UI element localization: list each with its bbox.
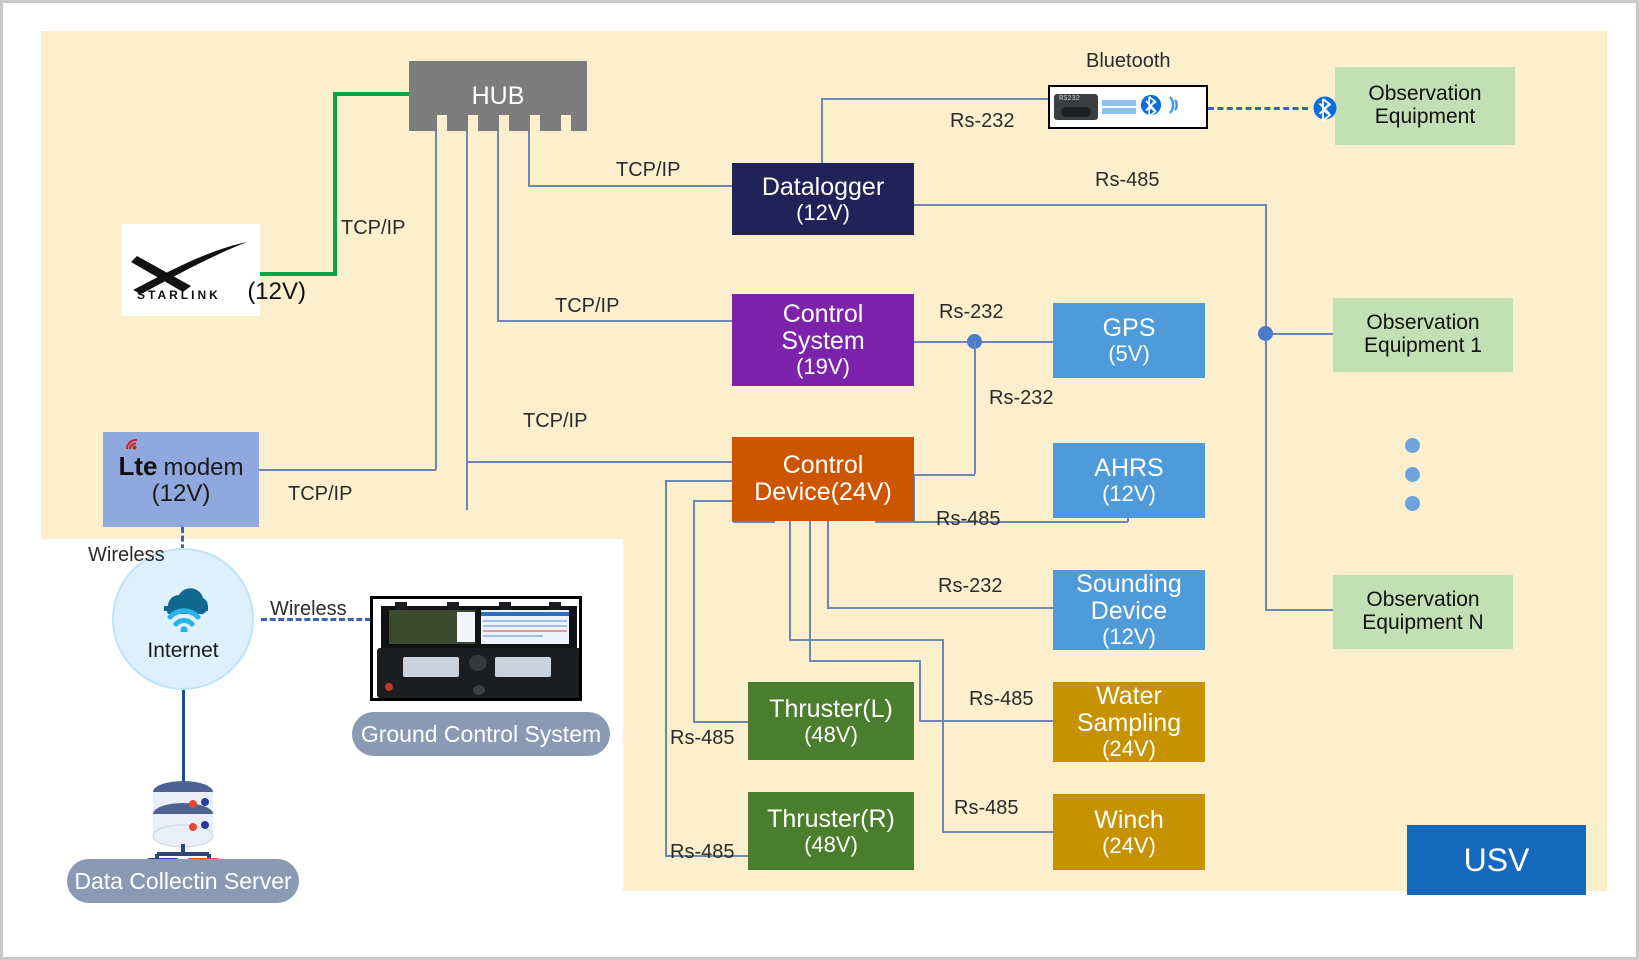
ahrs-voltage: (12V) [1102,482,1156,506]
wire-obs1-branch [1265,333,1333,335]
label-datalogger-bluetooth: Rs-232 [950,110,1014,133]
obs-bt-label-2: Equipment [1375,106,1475,129]
gcs-caption: Ground Control System [352,712,610,756]
label-internet-gcs: Wireless [270,598,347,621]
wire-datalogger-obs-horiz [914,204,1266,206]
junction-dot-obs [1258,326,1273,341]
water-sampling-label-1: Water [1096,683,1162,710]
water-sampling-label-2: Sampling [1077,710,1181,737]
starlink-voltage: (12V) [247,278,306,306]
label-hub-starlink: TCP/IP [341,217,405,240]
control-system-node[interactable]: Control System (19V) [732,294,914,386]
bluetooth-icon [1140,90,1162,125]
thruster-left-node[interactable]: Thruster(L) (48V) [748,682,914,760]
sounding-label-1: Sounding [1076,571,1182,598]
obs-1-label-1: Observation [1366,312,1479,335]
ground-control-system-image [370,596,582,701]
rs232-port-label: RS232 [1059,95,1080,103]
water-sampling-node[interactable]: Water Sampling (24V) [1053,682,1205,762]
wire-starlink-to-hub [333,92,411,96]
hub-port-5 [561,115,571,131]
control-system-voltage: (19V) [796,355,850,379]
winch-node[interactable]: Winch (24V) [1053,794,1205,870]
internet-node[interactable]: Internet [112,548,254,690]
internet-label: Internet [147,639,218,663]
bidirectional-arrows-icon [1102,98,1136,116]
thruster-right-node[interactable]: Thruster(R) (48V) [748,792,914,870]
label-hub-control-system: TCP/IP [555,295,619,318]
ellipsis-dot-3 [1405,496,1420,511]
wire-cd-water-horiz1 [809,660,919,662]
gps-node[interactable]: GPS (5V) [1053,303,1205,378]
wire-hub-port-4 [528,130,530,185]
obs-n-label-2: Equipment N [1362,612,1483,635]
label-cs-gps: Rs-232 [939,301,1003,324]
wire-hub-port-1 [435,130,437,470]
usv-badge-label: USV [1464,843,1530,878]
rs232-port-shape [1061,107,1091,117]
lte-modem-voltage: (12V) [152,481,211,507]
bluetooth-title: Bluetooth [1086,50,1171,73]
hub-port-1 [437,115,447,131]
obs-n-label-1: Observation [1366,589,1479,612]
data-server-caption: Data Collectin Server [67,859,299,903]
bluetooth-icon-receiver [1310,92,1340,129]
wire-thl-col [693,500,695,721]
rs232-connector-icon: RS232 [1054,94,1098,120]
wire-hub-port-3 [497,130,499,320]
wire-bt-to-obs-dashed [1208,107,1308,110]
label-cd-thruster-l: Rs-485 [670,727,734,750]
hub-port-2 [468,115,478,131]
database-icon [143,778,223,870]
hub-port-4 [530,115,540,131]
wire-cd-water-horiz2 [919,720,1054,722]
observation-equipment-n-node[interactable]: Observation Equipment N [1333,575,1513,649]
thruster-left-voltage: (48V) [804,723,858,747]
control-device-label-1: Control [783,452,864,479]
label-cd-ahrs: Rs-485 [936,508,1000,531]
wire-datalogger-bt-horiz [821,98,1049,100]
observation-equipment-bt-node[interactable]: Observation Equipment [1335,67,1515,145]
label-cd-gps-branch: Rs-232 [989,387,1053,410]
wire-cd-thl-branch-top [733,521,775,523]
ahrs-node[interactable]: AHRS (12V) [1053,443,1205,518]
wire-datalogger-bt-vert [821,98,823,163]
wire-hub-to-lte [259,469,436,471]
wire-cd-to-gps-branch [914,474,975,476]
wire-cs-to-gps [914,341,1053,343]
wire-starlink-vert [333,92,337,276]
cloud-icon [150,576,216,637]
gps-voltage: (5V) [1108,342,1150,366]
label-cd-water: Rs-485 [969,688,1033,711]
control-device-node[interactable]: Control Device(24V) [732,437,914,521]
datalogger-voltage: (12V) [796,201,850,225]
wire-cd-water-vert2 [919,660,921,720]
wire-cd-sounding-horiz [827,607,1054,609]
control-system-label-1: Control [783,301,864,328]
label-cd-thruster-r: Rs-485 [670,841,734,864]
thruster-left-label: Thruster(L) [769,696,893,723]
wire-cd-left-stub-b [665,480,733,482]
hub-port-3 [499,115,509,131]
wire-hub-to-datalogger [528,185,732,187]
label-hub-control-device: TCP/IP [523,410,587,433]
ahrs-label: AHRS [1094,455,1163,482]
wire-hub-to-control-system [497,320,732,322]
wire-cd-winch-vert1 [789,521,791,639]
bluetooth-adapter-node[interactable]: RS232 [1048,85,1208,129]
thruster-right-voltage: (48V) [804,833,858,857]
label-hub-lte: TCP/IP [288,483,352,506]
wire-cd-winch-horiz2 [942,831,1054,833]
wire-obs-trunk-vert [1265,204,1267,609]
control-device-label-2: Device(24V) [754,479,892,506]
obs-1-label-2: Equipment 1 [1364,335,1482,358]
ellipsis-dot-2 [1405,467,1420,482]
diagram-root: HUB STARLINK (12V) Lte [0,0,1639,960]
sounding-voltage: (12V) [1102,625,1156,649]
starlink-node[interactable]: STARLINK (12V) [122,224,260,316]
obs-bt-label-1: Observation [1368,83,1481,106]
data-server-caption-label: Data Collectin Server [74,868,291,895]
starlink-wordmark: STARLINK [137,288,221,302]
label-hub-datalogger: TCP/IP [616,159,680,182]
label-lte-internet: Wireless [88,544,165,567]
wire-starlink-stub [255,272,337,276]
wire-cd-winch-vert2 [942,639,944,831]
datalogger-label: Datalogger [762,174,884,201]
lte-modem-label: modem [163,455,243,481]
observation-equipment-1-node[interactable]: Observation Equipment 1 [1333,298,1513,372]
winch-voltage: (24V) [1102,834,1156,858]
lte-modem-node[interactable]: Lte modem (12V) [103,432,259,527]
label-cd-winch: Rs-485 [954,797,1018,820]
datalogger-node[interactable]: Datalogger (12V) [732,163,914,235]
ellipsis-dot-1 [1405,438,1420,453]
label-datalogger-obs: Rs-485 [1095,169,1159,192]
wire-thl-into-box [693,721,748,723]
wire-cd-ahrs-horiz [875,521,1128,523]
sounding-label-2: Device [1091,598,1167,625]
winch-label: Winch [1094,807,1163,834]
wire-hub-port-2 [466,130,468,510]
water-sampling-voltage: (24V) [1102,737,1156,761]
gcs-caption-label: Ground Control System [361,721,601,748]
observation-ellipsis-dots [1405,438,1420,511]
sounding-device-node[interactable]: Sounding Device (12V) [1053,570,1205,650]
lte-logo-row: Lte modem [118,452,243,481]
control-system-label-2: System [781,328,864,355]
wire-obsn-branch [1265,609,1333,611]
wire-cd-winch-horiz1 [789,639,942,641]
wire-internet-to-server [182,683,185,783]
thruster-right-label: Thruster(R) [767,806,895,833]
bluetooth-waves-icon [1166,92,1184,123]
hub-label: HUB [472,83,525,110]
wire-thr-col [665,480,667,855]
wire-gps-branch-vert [974,341,976,474]
wire-cd-sounding-vert [827,521,829,607]
hub-node[interactable]: HUB [409,61,587,131]
starlink-logo-icon: STARLINK [131,236,251,304]
wire-hub-to-control-device [466,461,732,463]
label-cd-sounding: Rs-232 [938,575,1002,598]
lte-logo-icon: Lte [118,452,157,480]
wire-cd-left-stub-a [693,500,733,502]
gps-label: GPS [1103,315,1156,342]
usv-badge: USV [1407,825,1586,895]
